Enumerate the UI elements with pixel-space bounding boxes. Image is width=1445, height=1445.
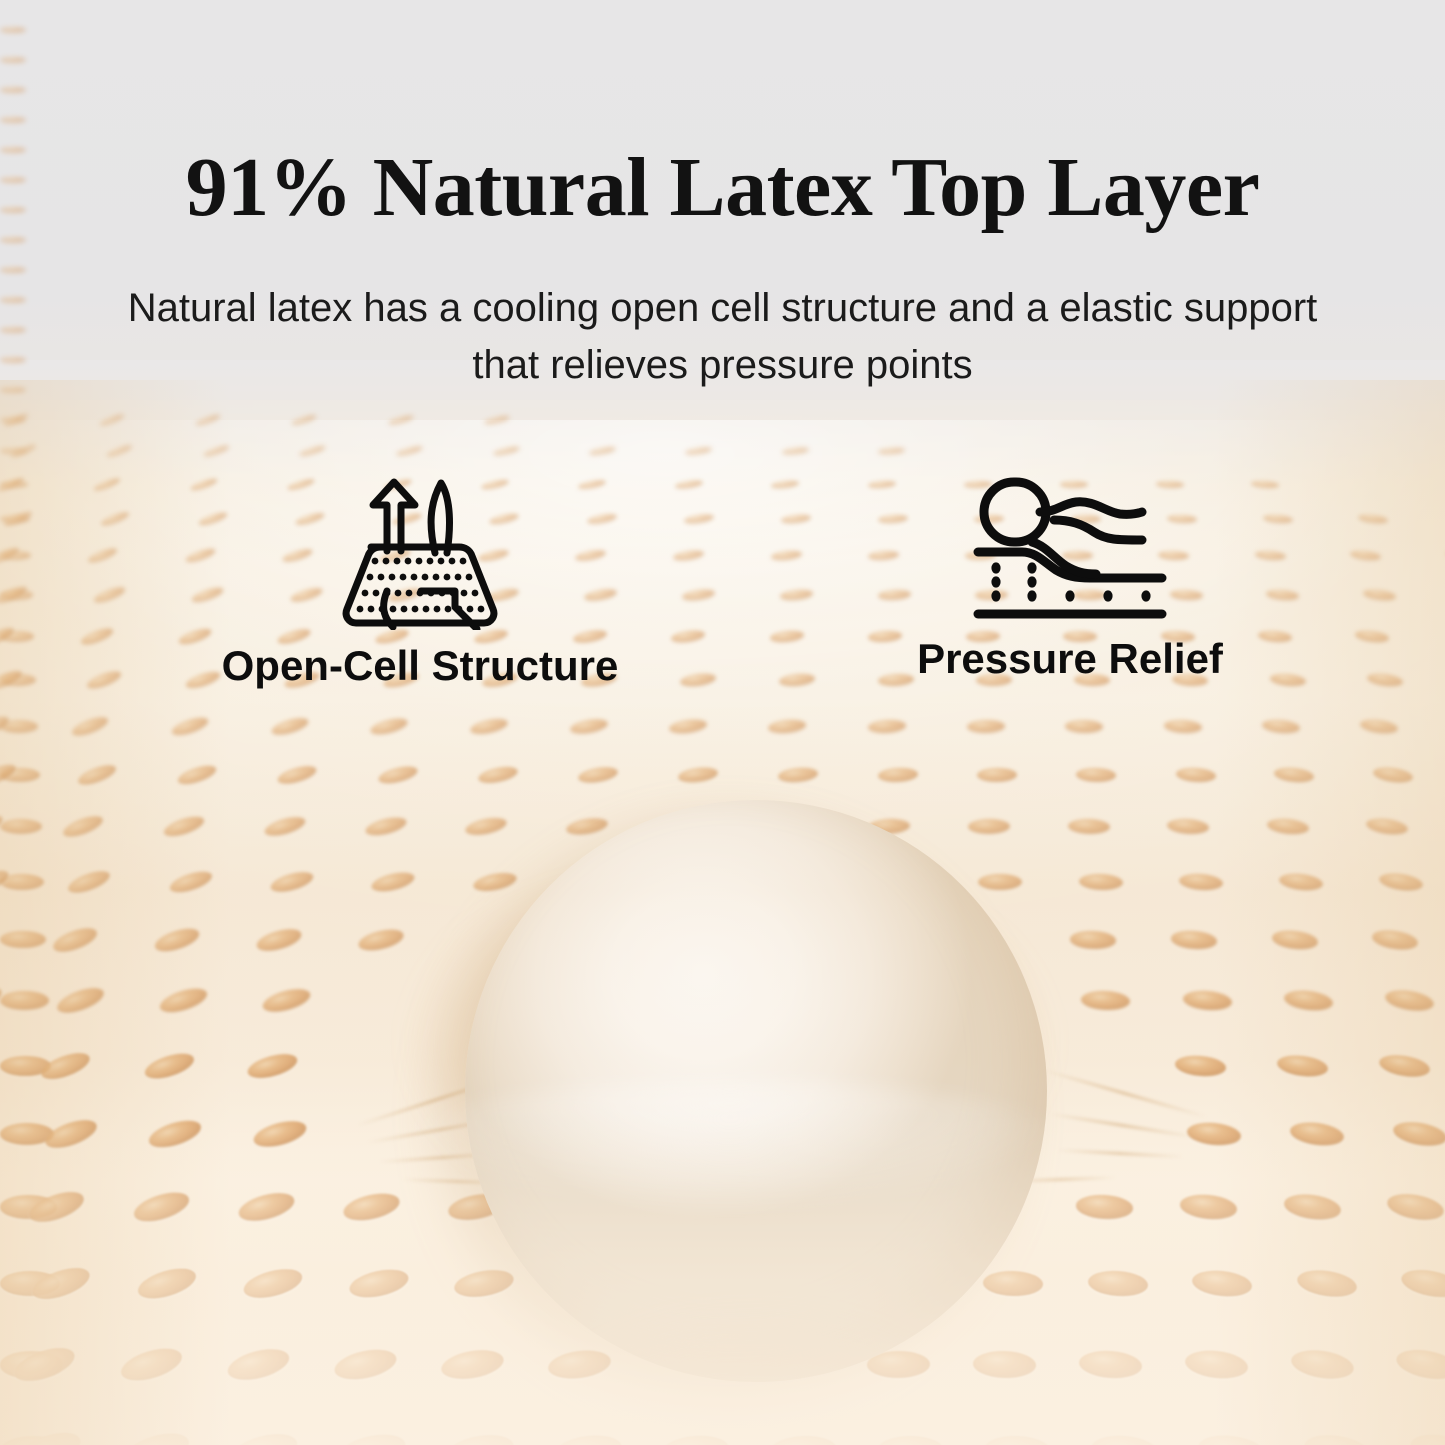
page-title: 91% Natural Latex Top Layer [0,146,1445,230]
foam-pinhole [0,27,26,33]
foam-pinhole [0,387,26,393]
foam-pinhole [0,117,26,123]
feature-open-cell-structure: Open-Cell Structure [110,455,730,687]
page-subtitle: Natural latex has a cooling open cell st… [96,280,1349,394]
perforated-foam-airflow-icon [110,455,730,635]
foam-pinhole [291,413,318,426]
foam-pinhole [10,443,37,460]
foam-pinhole [0,57,26,63]
foam-pinhole [0,237,26,243]
foam-pinhole [195,413,222,427]
feature-label-pressure-relief: Pressure Relief [760,638,1380,680]
foam-pinhole [0,297,26,303]
person-lying-on-mattress-icon [760,468,1380,628]
foam-bottom-warm-overlay [0,1115,1445,1445]
feature-label-open-cell-structure: Open-Cell Structure [110,645,730,687]
foam-pinhole [0,357,26,363]
foam-pinhole [781,446,808,455]
foam-pinhole [99,412,125,427]
product-feature-image: 91% Natural Latex Top Layer Natural late… [0,0,1445,1445]
foam-pinhole [0,87,26,93]
feature-pressure-relief: Pressure Relief [760,468,1380,680]
foam-pinhole [483,414,510,426]
foam-pinhole [0,327,26,333]
foam-mid-shadow-band [0,700,1445,1180]
foam-pinhole [387,414,414,427]
foam-pinhole [878,447,905,455]
foam-pinhole [0,267,26,273]
